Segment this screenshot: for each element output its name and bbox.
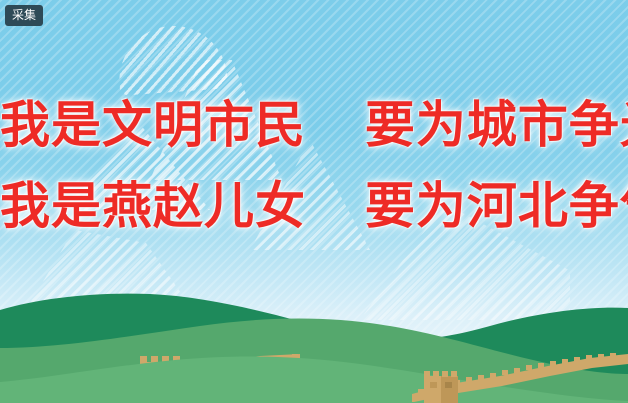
slogan-line-1: 我是文明市民 要为城市争光 — [0, 96, 628, 154]
slogan-line-1-left: 我是文明市民 — [0, 96, 306, 154]
capture-button[interactable]: 采集 — [5, 5, 43, 26]
slogan-line-2-right: 要为河北争气 — [365, 177, 628, 235]
slogan-line-2: 我是燕赵儿女 要为河北争气 — [0, 177, 628, 235]
slogan-line-2-left: 我是燕赵儿女 — [0, 177, 306, 235]
banner-image: 我是文明市民 要为城市争光 我是燕赵儿女 要为河北争气 采集 — [0, 0, 628, 403]
great-wall-right — [0, 348, 628, 403]
slogan-line-1-right: 要为城市争光 — [365, 96, 628, 154]
